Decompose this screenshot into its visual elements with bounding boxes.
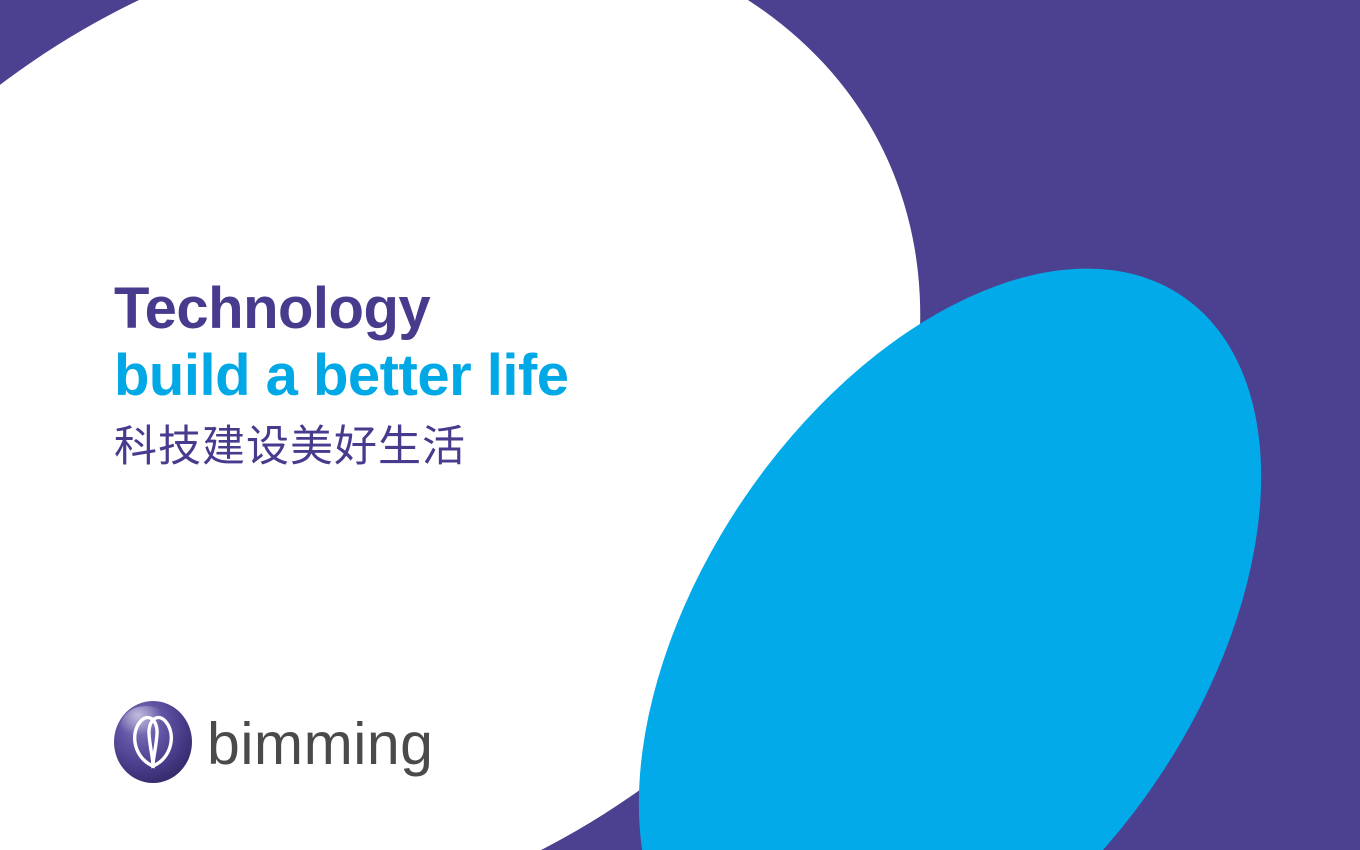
headline-line-secondary: build a better life [114,342,754,409]
bimming-sphere-logo-icon [113,700,193,784]
headline-line-primary: Technology [114,275,754,342]
brand-wordmark: bimming [207,715,433,774]
slide-content: Technology build a better life 科技建设美好生活 [0,0,1360,850]
headline-line-chinese: 科技建设美好生活 [114,422,754,474]
slide-canvas: Technology build a better life 科技建设美好生活 [0,0,1360,850]
headline-block: Technology build a better life 科技建设美好生活 [114,275,754,473]
brand-logo: bimming [113,700,433,784]
